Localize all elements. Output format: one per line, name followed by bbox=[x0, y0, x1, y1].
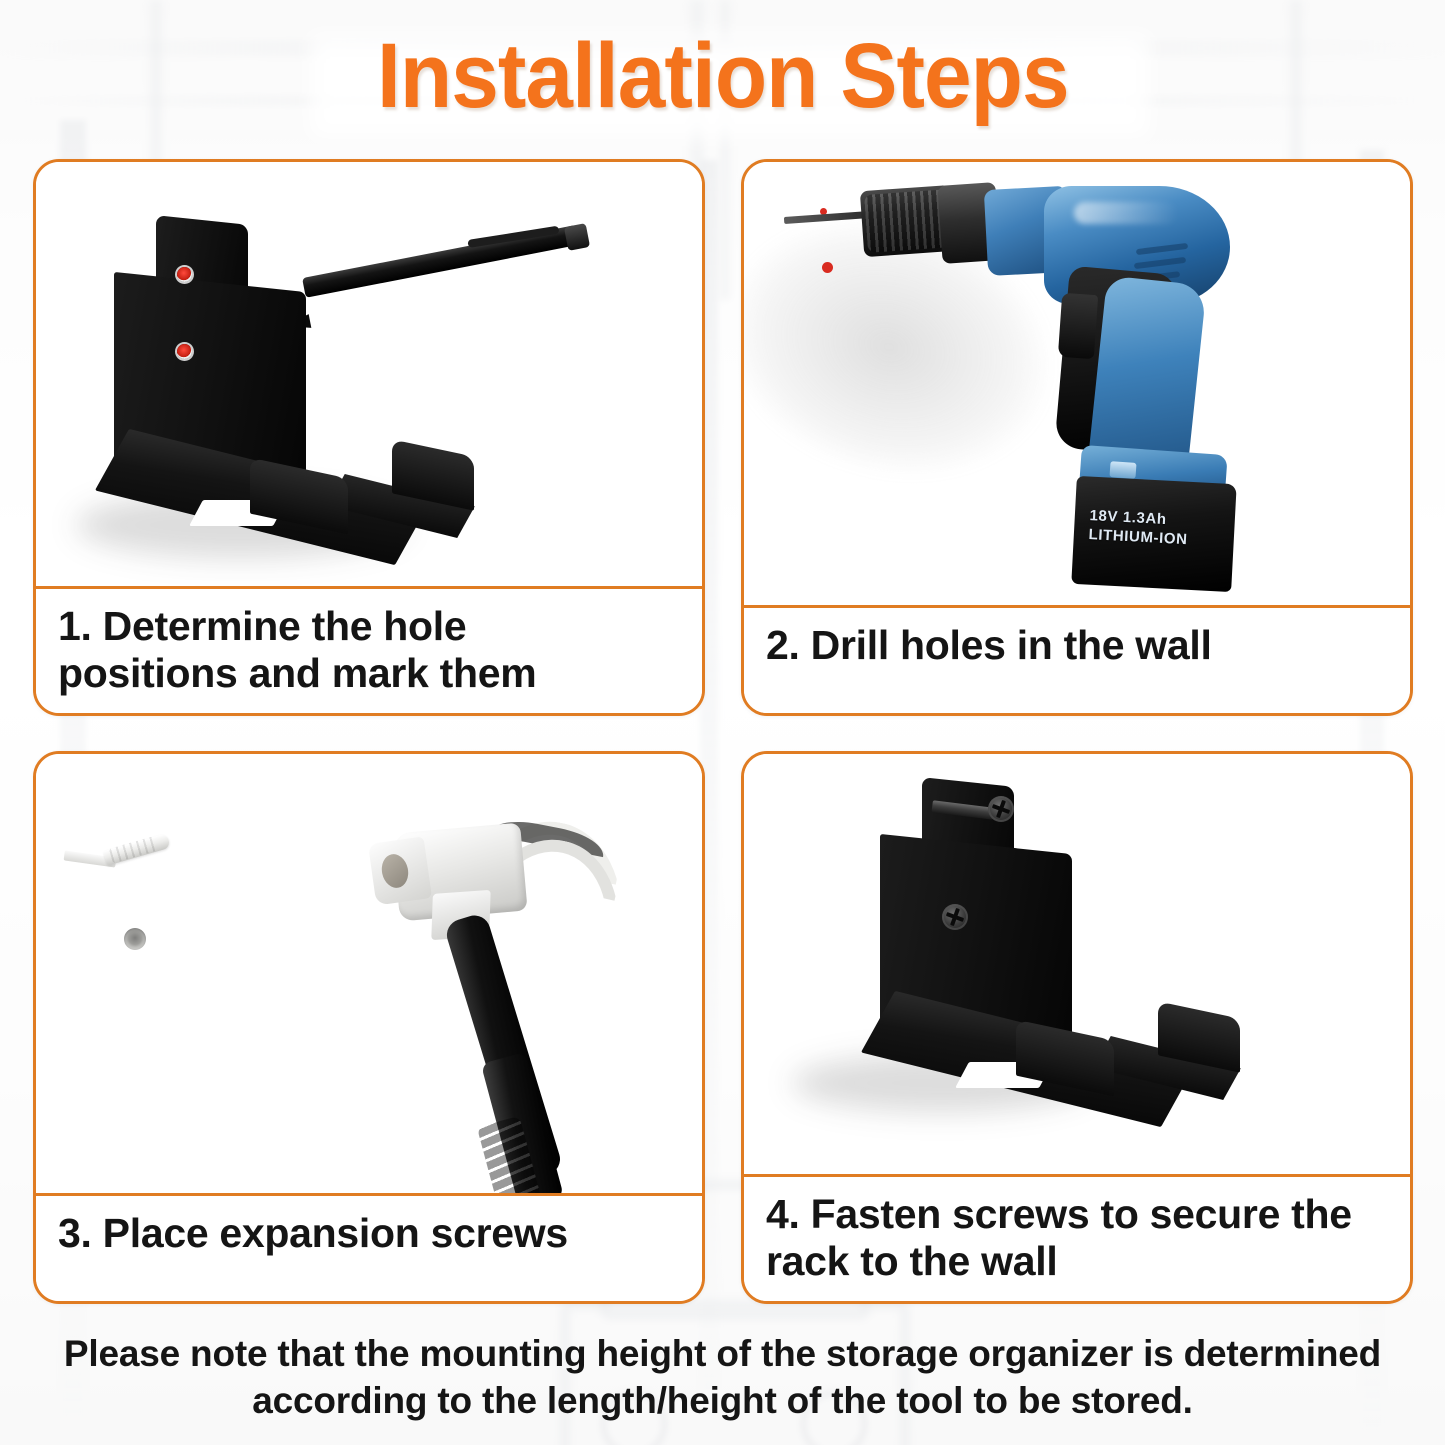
battery-release-button[interactable] bbox=[1109, 461, 1136, 479]
upper-screw-head bbox=[988, 796, 1014, 822]
step-1-figure bbox=[36, 162, 702, 586]
step-4-caption: 4. Fasten screws to secure the rack to t… bbox=[744, 1174, 1410, 1301]
title-block: Installation Steps bbox=[0, 26, 1445, 126]
step-3-figure bbox=[36, 754, 702, 1193]
step-card-1: 1. Determine the hole positions and mark… bbox=[33, 159, 705, 716]
anchor-hole-in-wall bbox=[124, 928, 146, 950]
step-card-2: 18V 1.3Ah LITHIUM-ION 2. Drill holes in … bbox=[741, 159, 1413, 716]
drill-trigger[interactable] bbox=[1058, 293, 1098, 359]
hole-mark-lower bbox=[177, 344, 192, 359]
footer-note-line-2: according to the length/height of the to… bbox=[0, 1377, 1445, 1424]
step-3-caption: 3. Place expansion screws bbox=[36, 1193, 702, 1301]
lower-screw-head bbox=[942, 904, 968, 930]
hole-mark-upper bbox=[177, 267, 192, 282]
pen-cap bbox=[564, 223, 590, 251]
step-4-figure bbox=[744, 754, 1410, 1174]
step-2-figure: 18V 1.3Ah LITHIUM-ION bbox=[744, 162, 1410, 605]
step-card-3: 3. Place expansion screws bbox=[33, 751, 705, 1304]
step-1-caption: 1. Determine the hole positions and mark… bbox=[36, 586, 702, 713]
page-title: Installation Steps bbox=[377, 26, 1069, 126]
footer-note: Please note that the mounting height of … bbox=[0, 1330, 1445, 1424]
anchor-plug-ribs bbox=[109, 836, 159, 864]
drill-mark-dot bbox=[822, 262, 833, 273]
step-2-caption: 2. Drill holes in the wall bbox=[744, 605, 1410, 713]
footer-note-line-1: Please note that the mounting height of … bbox=[0, 1330, 1445, 1377]
anchor-group bbox=[94, 802, 314, 1022]
battery-label: 18V 1.3Ah LITHIUM-ION bbox=[1088, 506, 1240, 552]
steps-grid: 1. Determine the hole positions and mark… bbox=[33, 159, 1413, 1304]
step-card-4: 4. Fasten screws to secure the rack to t… bbox=[741, 751, 1413, 1304]
drill-highlight bbox=[1074, 202, 1178, 224]
